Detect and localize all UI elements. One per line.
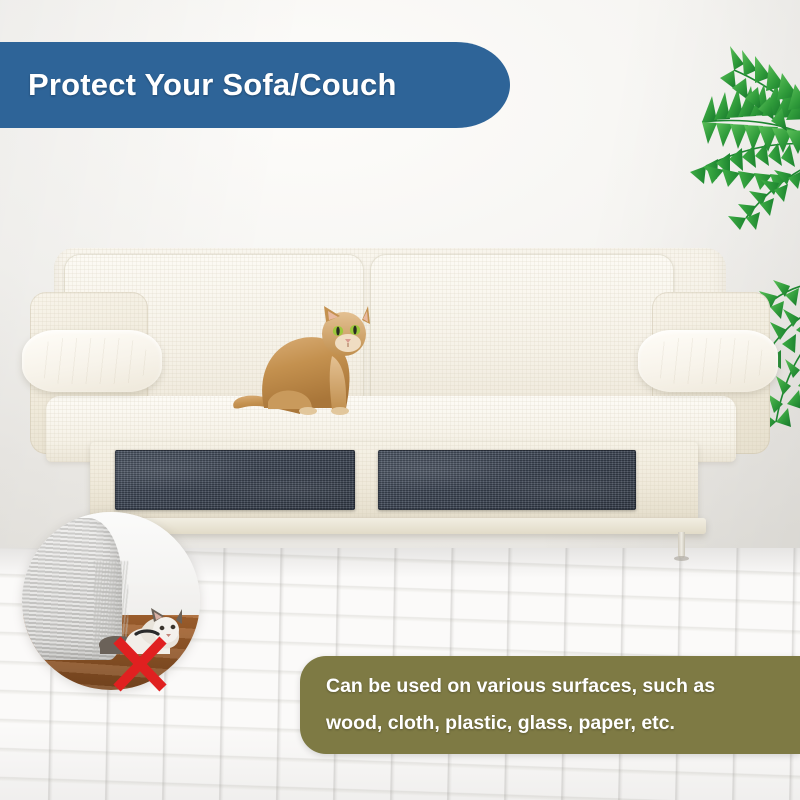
scratch-mat-right [378,450,636,510]
red-x-icon [112,636,168,694]
fabric-weave-texture [370,254,674,410]
feature-text-line2: wood, cloth, plastic, glass, paper, etc. [326,714,782,734]
arm-pillow-left [22,330,162,392]
headline-banner: Protect Your Sofa/Couch [0,42,510,128]
back-cushion-right [370,254,674,410]
inset-damaged-sofa-photo [22,512,200,690]
feature-text-line1: Can be used on various surfaces, such as [326,677,782,697]
feature-banner: Can be used on various surfaces, such as… [300,656,800,754]
cat-on-sofa [228,296,378,418]
scratch-mat-left [115,450,355,510]
product-image-canvas: Protect Your Sofa/Couch Can be used on v… [0,0,800,800]
arm-pillow-right [638,330,778,392]
sofa-leg-right [678,532,685,558]
sofa [20,246,780,556]
headline-text: Protect Your Sofa/Couch [0,67,397,103]
